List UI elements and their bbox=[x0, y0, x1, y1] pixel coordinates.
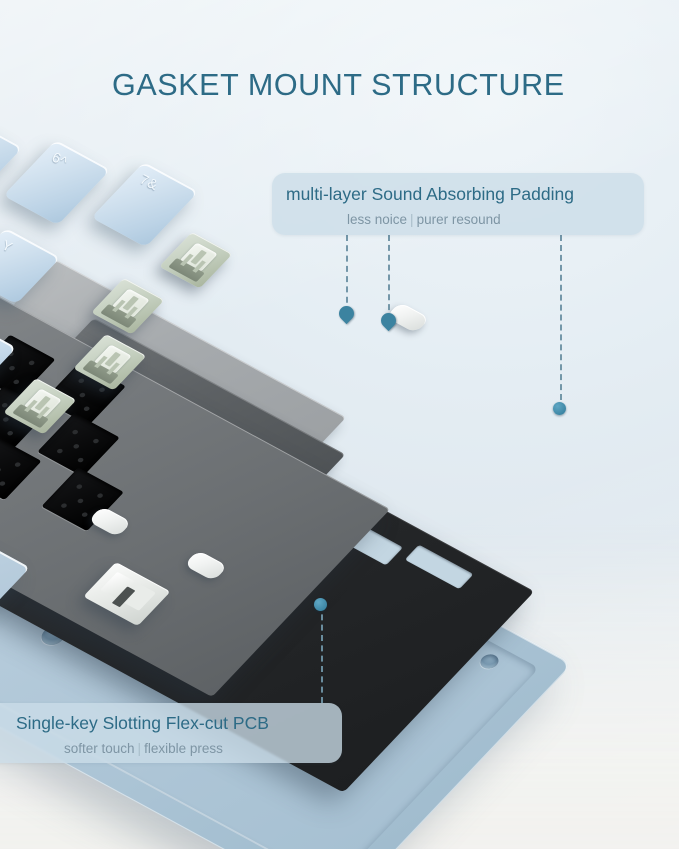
page-title: GASKET MOUNT STRUCTURE bbox=[112, 68, 565, 103]
callout-bottom-title: Single-key Slotting Flex-cut PCB bbox=[16, 715, 269, 733]
callout-top-separator: | bbox=[407, 212, 417, 227]
mechanical-switch bbox=[159, 232, 232, 288]
leader-line-top-3 bbox=[560, 235, 562, 410]
leader-line-top-2 bbox=[388, 235, 390, 320]
callout-sound-absorbing-padding[interactable]: multi-layer Sound Absorbing Padding less… bbox=[272, 173, 644, 235]
leader-line-top-1 bbox=[346, 235, 348, 313]
callout-bottom-subtitle: softer touch|flexible press bbox=[64, 742, 223, 756]
keycap-legend: Y bbox=[0, 237, 16, 256]
switch-base-pad bbox=[168, 258, 205, 282]
callout-top-sub-left: less noice bbox=[347, 212, 407, 227]
callout-top-sub-right: purer resound bbox=[417, 212, 501, 227]
infographic-canvas: GASKET MOUNT STRUCTURE bbox=[0, 0, 679, 849]
leader-line-bottom-1 bbox=[321, 604, 323, 703]
callout-bottom-separator: | bbox=[135, 741, 145, 756]
keycap-legend: 6^ bbox=[50, 149, 71, 170]
callout-bottom-sub-left: softer touch bbox=[64, 741, 135, 756]
keycap-legend: 7& bbox=[138, 171, 161, 193]
callout-top-subtitle: less noice|purer resound bbox=[347, 213, 501, 227]
plate-cutout bbox=[0, 436, 42, 500]
callout-top-title: multi-layer Sound Absorbing Padding bbox=[286, 186, 574, 204]
callout-marker-top-3 bbox=[553, 402, 566, 415]
pcb-flex-cut bbox=[405, 545, 474, 590]
keycap: 7& bbox=[91, 162, 198, 247]
callout-flex-cut-pcb[interactable]: Single-key Slotting Flex-cut PCB softer … bbox=[0, 703, 342, 763]
callout-bottom-sub-right: flexible press bbox=[144, 741, 223, 756]
callout-marker-bottom-1 bbox=[314, 598, 327, 611]
